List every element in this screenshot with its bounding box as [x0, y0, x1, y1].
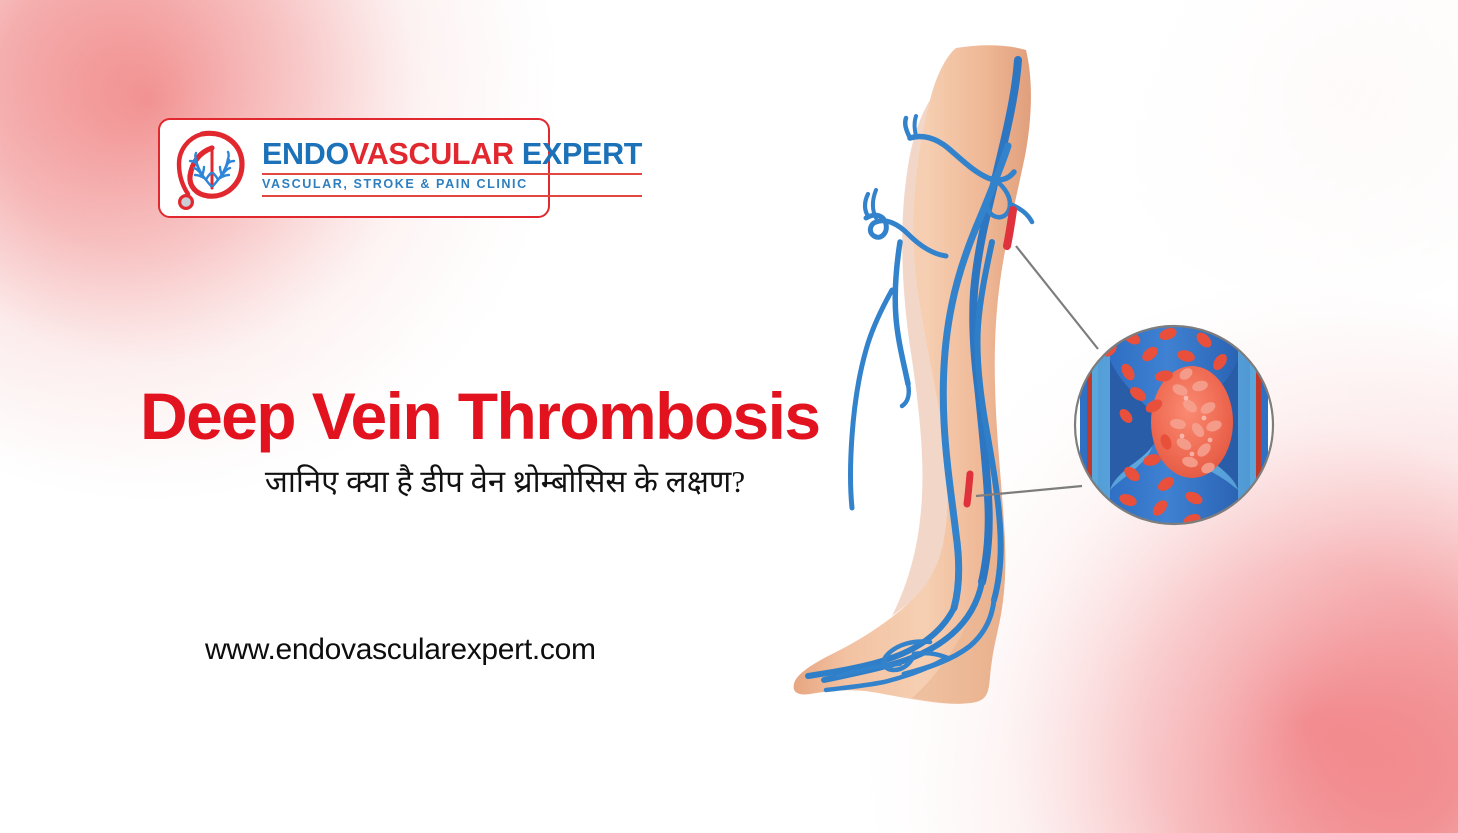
brand-name-line: ENDOVASCULAR EXPERT	[262, 139, 642, 170]
website-url[interactable]: www.endovascularexpert.com	[205, 633, 596, 667]
brand-part-vascular: VASCULAR	[349, 137, 514, 171]
brand-wordmark: ENDOVASCULAR EXPERT VASCULAR, STROKE & P…	[262, 139, 642, 196]
page-title: Deep Vein Thrombosis	[140, 382, 870, 451]
headline-block: Deep Vein Thrombosis जानिए क्या है डीप व…	[140, 382, 870, 502]
brand-tagline: VASCULAR, STROKE & PAIN CLINIC	[262, 177, 642, 193]
leg-anatomy-svg	[780, 42, 1300, 722]
magnified-vein-inset	[1064, 318, 1284, 537]
brand-divider-bottom	[262, 195, 642, 197]
brand-logo[interactable]: ENDOVASCULAR EXPERT VASCULAR, STROKE & P…	[158, 118, 550, 218]
page-subtitle-hindi: जानिए क्या है डीप वेन थ्रोम्बोसिस के लक्…	[140, 461, 870, 503]
stethoscope-vascular-tree-icon	[168, 126, 256, 210]
leg-venous-illustration	[780, 42, 1300, 722]
dvt-awareness-banner: ENDOVASCULAR EXPERT VASCULAR, STROKE & P…	[0, 0, 1458, 833]
brand-divider-top	[262, 173, 642, 175]
brand-part-expert: EXPERT	[522, 137, 642, 171]
brand-part-endo: ENDO	[262, 137, 349, 171]
